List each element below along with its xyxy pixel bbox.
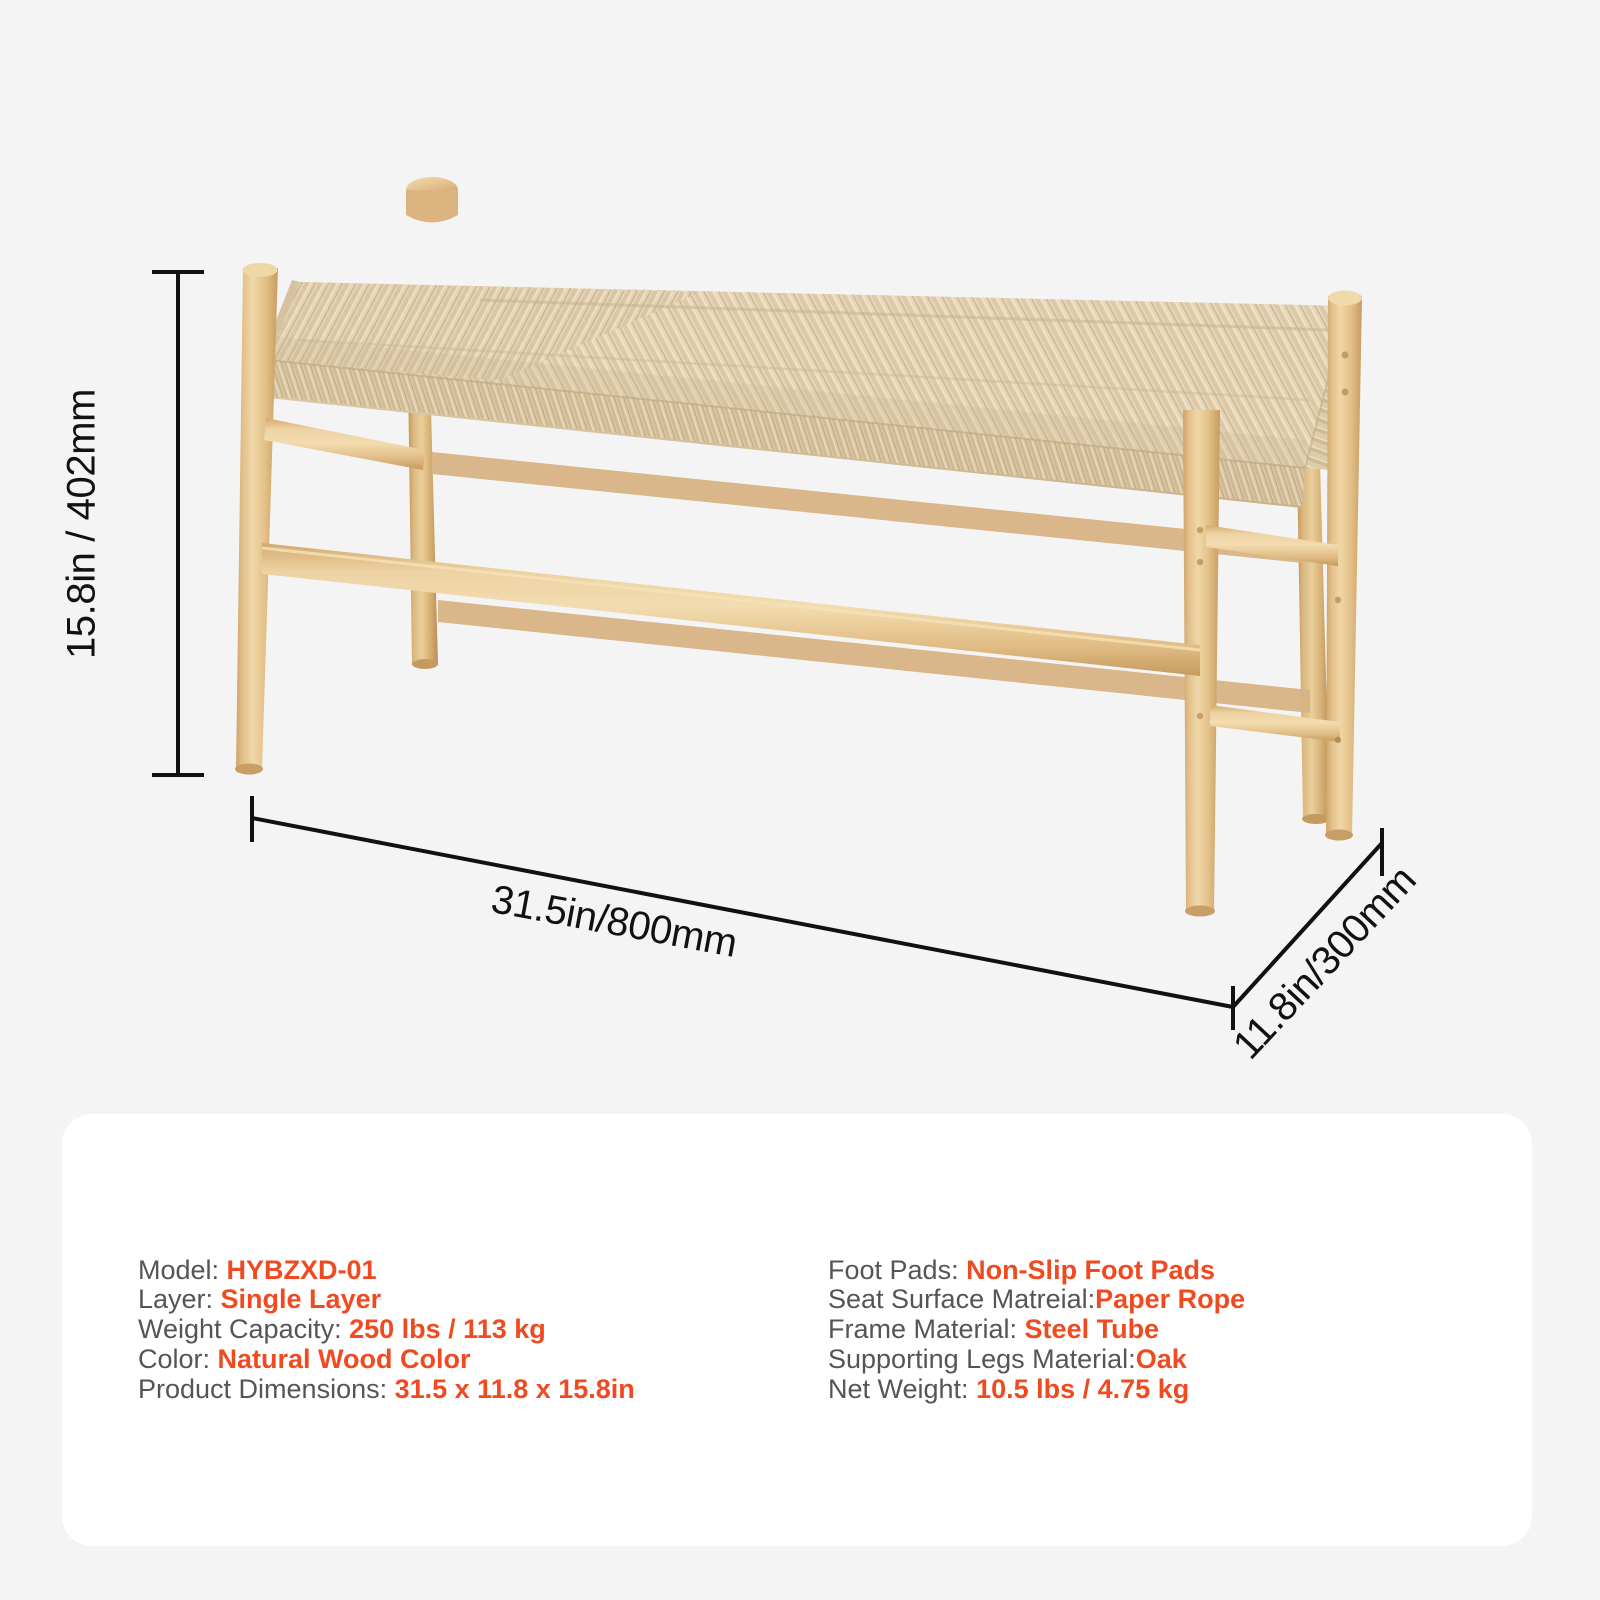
spec-value-layer: Single Layer (221, 1285, 382, 1315)
spec-row-model: Model: HYBZXD-01 (138, 1256, 828, 1286)
spec-value-foot-pads: Non-Slip Foot Pads (966, 1256, 1215, 1286)
spec-value-model: HYBZXD-01 (227, 1256, 377, 1286)
spec-row-weight-capacity: Weight Capacity: 250 lbs / 113 kg (138, 1315, 828, 1345)
specification-grid: Model: HYBZXD-01 Layer: Single Layer Wei… (62, 1114, 1532, 1546)
depth-dimension-label: 11.8in/300mm (1225, 858, 1425, 1068)
spec-label-color: Color: (138, 1345, 218, 1375)
spec-value-net-weight: 10.5 lbs / 4.75 kg (976, 1375, 1189, 1405)
spec-column-left: Model: HYBZXD-01 Layer: Single Layer Wei… (138, 1256, 828, 1404)
spec-value-seat-surface-material: Paper Rope (1095, 1285, 1245, 1315)
spec-row-seat-surface-material: Seat Surface Matreial: Paper Rope (828, 1285, 1532, 1315)
spec-row-color: Color: Natural Wood Color (138, 1345, 828, 1375)
height-dimension-label: 15.8in / 402mm (60, 389, 105, 659)
product-illustration: 15.8in / 402mm 31.5in/800mm 11.8in/300mm (0, 0, 1600, 1100)
width-dimension-label: 31.5in/800mm (488, 877, 741, 967)
infographic-stage: 15.8in / 402mm 31.5in/800mm 11.8in/300mm… (0, 0, 1600, 1600)
spec-label-supporting-legs-material: Supporting Legs Material: (828, 1345, 1136, 1375)
dimension-labels: 15.8in / 402mm 31.5in/800mm 11.8in/300mm (0, 0, 1600, 1100)
spec-row-net-weight: Net Weight: 10.5 lbs / 4.75 kg (828, 1375, 1532, 1405)
spec-value-product-dimensions: 31.5 x 11.8 x 15.8in (395, 1375, 635, 1405)
spec-value-weight-capacity: 250 lbs / 113 kg (349, 1315, 546, 1345)
spec-label-foot-pads: Foot Pads: (828, 1256, 966, 1286)
spec-label-seat-surface-material: Seat Surface Matreial: (828, 1285, 1095, 1315)
spec-row-product-dimensions: Product Dimensions: 31.5 x 11.8 x 15.8in (138, 1375, 828, 1405)
specification-card: Model: HYBZXD-01 Layer: Single Layer Wei… (62, 1114, 1532, 1546)
spec-value-frame-material: Steel Tube (1025, 1315, 1160, 1345)
spec-row-layer: Layer: Single Layer (138, 1285, 828, 1315)
spec-label-frame-material: Frame Material: (828, 1315, 1025, 1345)
spec-label-layer: Layer: (138, 1285, 221, 1315)
spec-label-product-dimensions: Product Dimensions: (138, 1375, 395, 1405)
spec-value-color: Natural Wood Color (218, 1345, 471, 1375)
spec-row-supporting-legs-material: Supporting Legs Material: Oak (828, 1345, 1532, 1375)
spec-label-weight-capacity: Weight Capacity: (138, 1315, 349, 1345)
spec-column-right: Foot Pads: Non-Slip Foot Pads Seat Surfa… (828, 1256, 1532, 1404)
spec-label-model: Model: (138, 1256, 227, 1286)
spec-row-frame-material: Frame Material: Steel Tube (828, 1315, 1532, 1345)
spec-label-net-weight: Net Weight: (828, 1375, 976, 1405)
spec-value-supporting-legs-material: Oak (1136, 1345, 1187, 1375)
spec-row-foot-pads: Foot Pads: Non-Slip Foot Pads (828, 1256, 1532, 1286)
